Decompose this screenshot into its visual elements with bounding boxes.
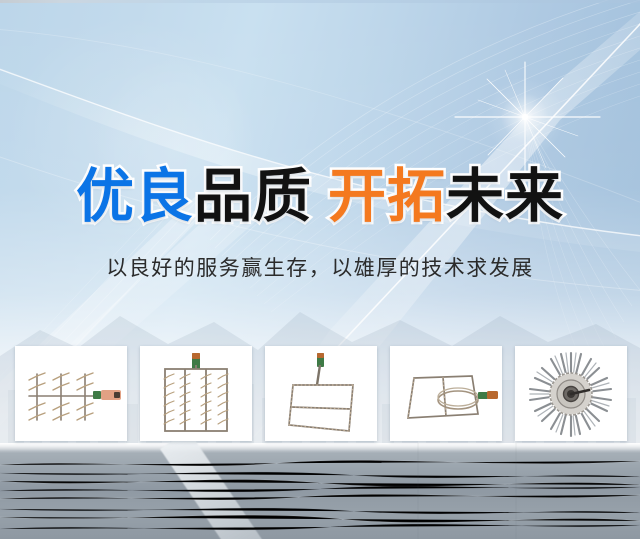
banner-top-edge — [0, 0, 640, 3]
radial-skewer-wheel-icon — [527, 350, 615, 438]
flat-grid-mesh-rack-icon — [277, 351, 365, 437]
product-card-radial-skewer-wheel[interactable] — [515, 346, 627, 441]
headline-segment-1: 优良 — [76, 164, 194, 229]
page-title: 优良品质开拓未来 — [0, 168, 640, 226]
product-card-ring-plate-rack[interactable] — [390, 346, 502, 441]
product-card-strip — [15, 346, 627, 441]
double-row-skewer-rack-icon — [153, 351, 239, 437]
promo-banner: 优良品质开拓未来 以良好的服务赢生存，以雄厚的技术求发展 — [0, 0, 640, 539]
headline-segment-4: 未来 — [446, 164, 564, 229]
multi-tier-hook-rack-icon — [19, 354, 123, 434]
headline-segment-2: 品质 — [194, 164, 312, 229]
product-card-double-row-skewer-rack[interactable] — [140, 346, 252, 441]
ring-plate-rack-icon — [394, 356, 498, 432]
headline-segment-3: 开拓 — [328, 164, 446, 229]
page-subtitle: 以良好的服务赢生存，以雄厚的技术求发展 — [0, 258, 640, 279]
product-card-multi-tier-hook-rack[interactable] — [15, 346, 127, 441]
ground-floor — [0, 443, 640, 539]
ground-texture — [0, 443, 640, 539]
product-card-flat-grid-mesh-rack[interactable] — [265, 346, 377, 441]
